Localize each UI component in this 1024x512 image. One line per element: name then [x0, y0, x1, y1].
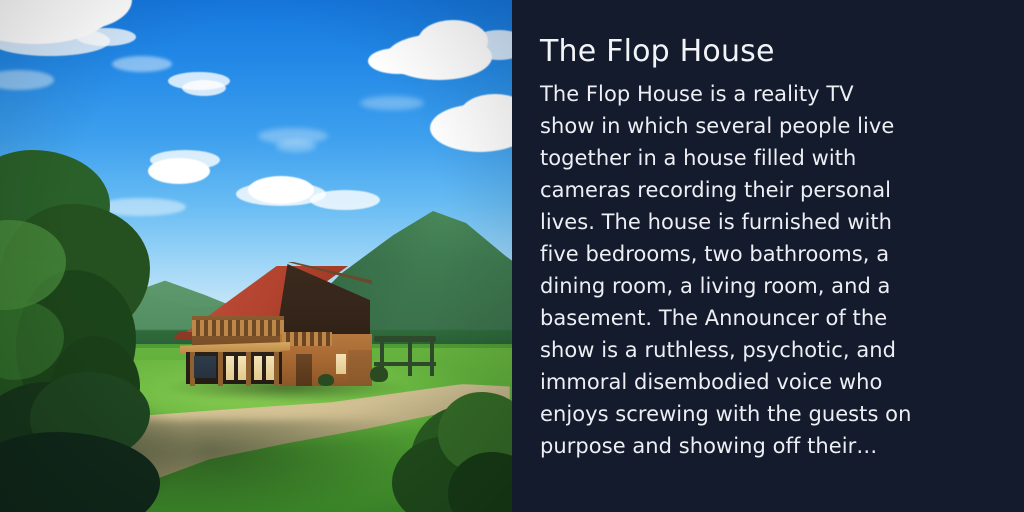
- cloud-icon: [248, 176, 314, 204]
- porch-post: [274, 352, 279, 386]
- cloud-icon: [276, 140, 316, 152]
- foreground-foliage: [0, 372, 190, 512]
- artwork-image: [0, 0, 512, 512]
- window: [336, 354, 346, 374]
- window: [238, 356, 246, 380]
- window: [254, 356, 262, 380]
- cloud-icon: [76, 28, 136, 46]
- media-text-card: The Flop House The Flop House is a reali…: [0, 0, 1024, 512]
- cloud-icon: [182, 80, 226, 96]
- window: [226, 356, 234, 380]
- house: [170, 258, 400, 388]
- foliage-clump: [0, 432, 160, 512]
- porch-post: [218, 352, 223, 386]
- door: [296, 354, 312, 386]
- balcony-railing: [192, 320, 284, 336]
- side-shed: [348, 350, 372, 386]
- window: [266, 356, 274, 380]
- porch-post: [246, 352, 251, 386]
- pergola-post: [408, 342, 412, 376]
- foreground-bush: [392, 392, 512, 512]
- page-title: The Flop House: [540, 34, 984, 70]
- pergola-post: [430, 342, 434, 376]
- cloud-icon: [112, 56, 172, 72]
- cloud-icon: [310, 190, 380, 210]
- description-text: The Flop House is a reality TV show in w…: [540, 78, 912, 462]
- cloud-icon: [368, 48, 428, 74]
- description-panel: The Flop House The Flop House is a reali…: [512, 0, 1024, 512]
- window: [194, 356, 216, 378]
- bush: [318, 374, 334, 386]
- cloud-icon: [360, 96, 424, 110]
- bush: [370, 366, 388, 382]
